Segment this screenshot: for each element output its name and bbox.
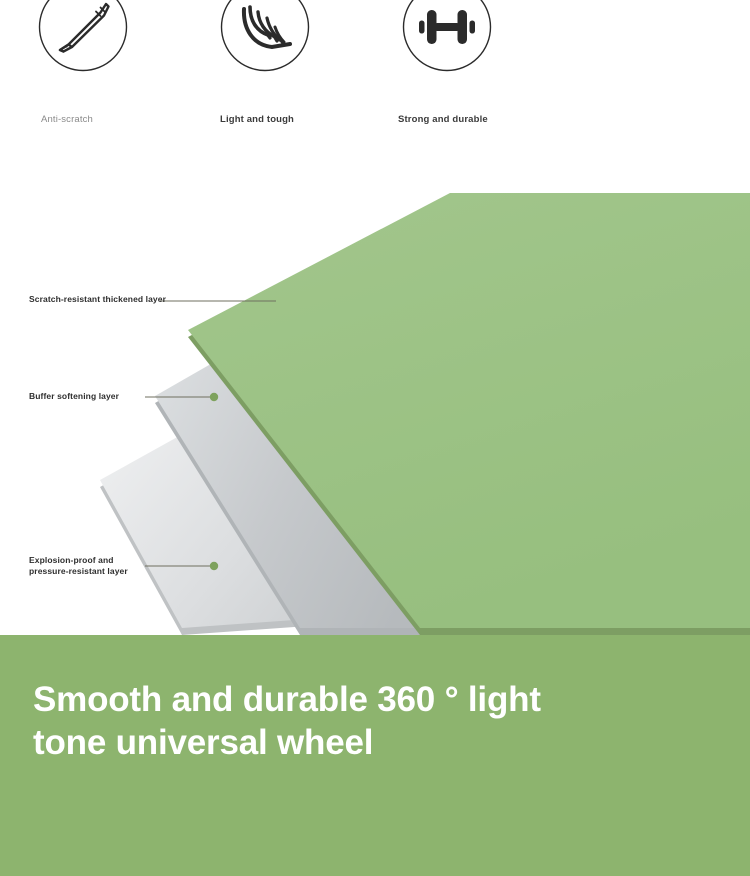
product-infographic-page: Anti-scratch: [0, 0, 750, 876]
bottom-green-banner: Smooth and durable 360 ° light tone univ…: [0, 635, 750, 876]
banner-heading: Smooth and durable 360 ° light tone univ…: [33, 679, 673, 764]
feather-icon: [220, 0, 310, 72]
scalpel-icon: [38, 0, 128, 72]
dumbbell-icon: [402, 0, 492, 72]
callout-marker-3: [210, 562, 218, 570]
feature-label: Strong and durable: [398, 114, 488, 125]
callout-label-buffer-softening: Buffer softening layer: [29, 391, 119, 402]
feature-icon-row: Anti-scratch: [0, 0, 750, 140]
callout-marker-2: [210, 393, 218, 401]
callout-label-scratch-resistant: Scratch-resistant thickened layer: [29, 294, 166, 305]
feature-label: Anti-scratch: [41, 114, 93, 125]
feature-label: Light and tough: [220, 114, 294, 125]
callout-label-explosion-proof: Explosion-proof and pressure-resistant l…: [29, 555, 128, 578]
